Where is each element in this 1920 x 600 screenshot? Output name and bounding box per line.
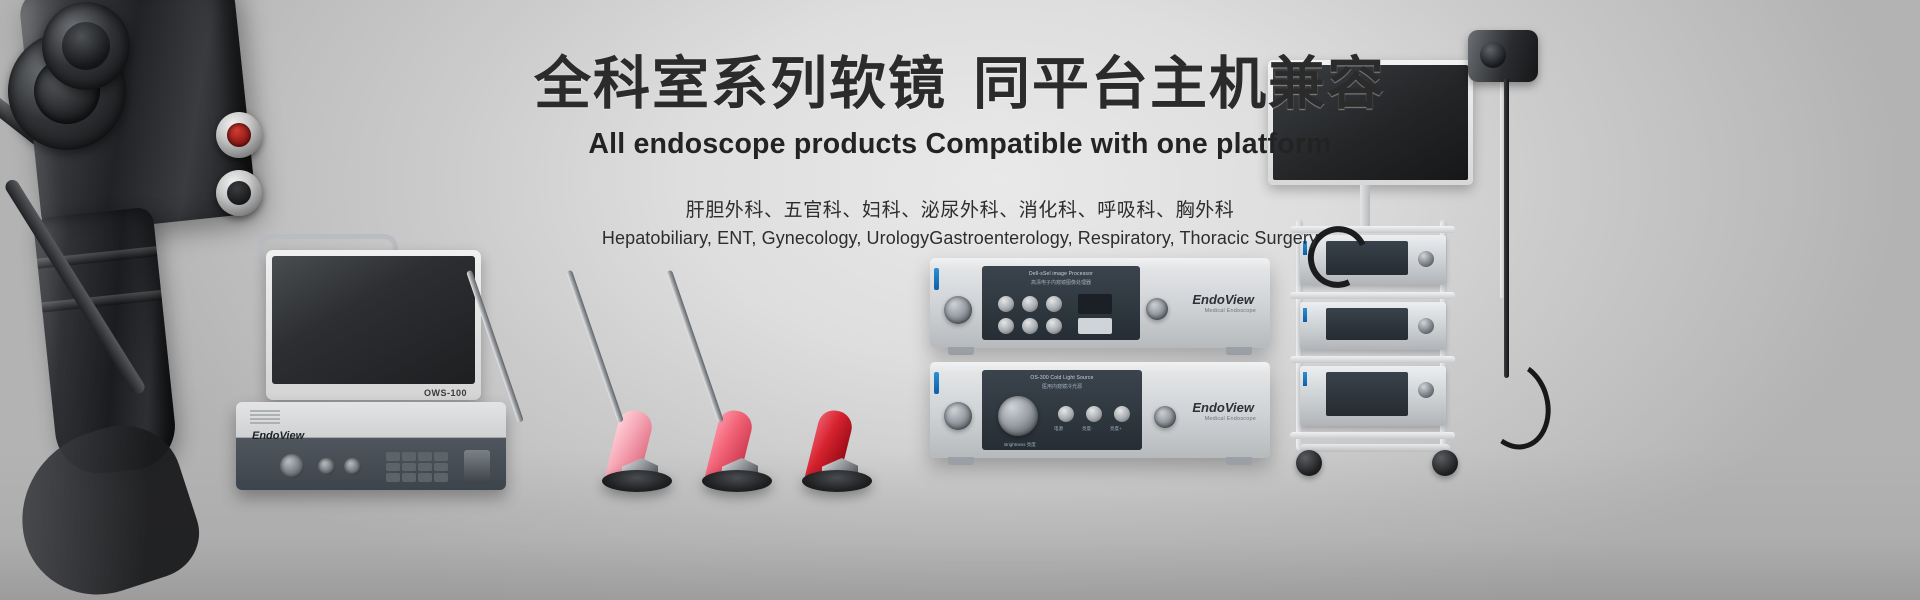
processor-brand-label: EndoView [1192, 292, 1254, 307]
lightsource-power-indicator [934, 372, 939, 394]
processor-btn-5 [1022, 318, 1038, 334]
lightsource-btn-up-label: 亮度+ [1110, 426, 1122, 432]
processor-btn-4 [998, 318, 1014, 334]
processor-title-cn: 高清电子内窥镜图像处理器 [982, 279, 1140, 286]
image-processor-unit: Dell-sSel image Processor 高清电子内窥镜图像处理器 E… [930, 258, 1270, 348]
rigid-instrument-red [712, 262, 862, 492]
lightsource-btn-power-label: 电源 [1054, 426, 1063, 432]
cart-wheel-left [1296, 450, 1322, 476]
workstation-model-label: OWS-100 [424, 388, 467, 398]
cart-unit-3 [1300, 366, 1446, 426]
subheadline-english: All endoscope products Compatible with o… [0, 128, 1920, 161]
cart-unit-2-indicator [1303, 308, 1307, 322]
scope-grip-ring-2 [42, 290, 162, 312]
processor-title-en: Dell-sSel image Processor [982, 271, 1140, 277]
workstation-keypad [386, 452, 448, 482]
headline-part-2: 同平台主机兼容 [973, 52, 1386, 116]
cart-shelf-2 [1290, 292, 1455, 299]
lightsource-subbrand-label: Medical Endoscope [1205, 416, 1256, 422]
processor-btn-1 [998, 296, 1014, 312]
processor-foot-right [1226, 347, 1252, 355]
cart-unit-2-panel [1326, 308, 1408, 340]
processor-port-usb [1078, 318, 1112, 334]
cart-unit-2-knob [1418, 318, 1434, 334]
cart-unit-1-knob [1418, 251, 1434, 267]
headline-part-1: 全科室系列软镜 [534, 52, 947, 116]
headline: 全科室系列软镜同平台主机兼容 [0, 52, 1920, 118]
cart-wheel-right [1432, 450, 1458, 476]
cart-scope-tube-loop [1470, 353, 1560, 457]
processor-port-hdmi [1078, 294, 1112, 314]
processor-btn-6 [1046, 318, 1062, 334]
cart-unit-3-knob [1418, 382, 1434, 398]
processor-main-knob [944, 296, 972, 324]
light-source-unit: OS-300 Cold Light Source 医用内窥镜冷光源 Bright… [930, 362, 1270, 458]
departments-english: Hepatobiliary, ENT, Gynecology, UrologyG… [0, 228, 1920, 249]
lightsource-title-cn: 医用内窥镜冷光源 [982, 383, 1142, 390]
instrument-stand [802, 470, 872, 492]
processor-power-indicator [934, 268, 939, 290]
cart-shelf-3 [1290, 356, 1455, 363]
lightsource-btn-down-label: 亮度- [1082, 426, 1093, 432]
lightsource-foot-left [948, 457, 974, 465]
lightsource-btn-power [1058, 406, 1074, 422]
cart-unit-3-indicator [1303, 372, 1307, 386]
cart-unit-3-panel [1326, 372, 1408, 416]
banner-text-block: 全科室系列软镜同平台主机兼容 All endoscope products Co… [0, 52, 1920, 249]
processor-btn-3 [1046, 296, 1062, 312]
processor-aux-knob [1146, 298, 1168, 320]
processor-foot-left [948, 347, 974, 355]
scope-distal-body [0, 410, 211, 600]
workstation-port-column [464, 450, 490, 484]
departments-chinese: 肝胆外科、五官科、妇科、泌尿外科、消化科、呼吸科、胸外科 [0, 195, 1920, 222]
lightsource-btn-up [1114, 406, 1130, 422]
lightsource-brand-label: EndoView [1192, 400, 1254, 415]
lightsource-btn-down [1086, 406, 1102, 422]
product-banner: OWS-100 EndoView [0, 0, 1920, 600]
lightsource-power-knob [944, 402, 972, 430]
lightsource-front-panel: OS-300 Cold Light Source 医用内窥镜冷光源 Bright… [982, 370, 1142, 450]
cart-unit-2 [1300, 302, 1446, 350]
processor-front-panel: Dell-sSel image Processor 高清电子内窥镜图像处理器 [982, 266, 1140, 340]
lightsource-foot-right [1226, 457, 1252, 465]
lightsource-knob-label: Brightness 亮度 [996, 442, 1044, 448]
lightsource-brightness-knob [998, 396, 1038, 436]
lightsource-aux-knob [1154, 406, 1176, 428]
processor-btn-2 [1022, 296, 1038, 312]
cart-shelf-4 [1290, 432, 1455, 439]
lightsource-title-en: OS-300 Cold Light Source [982, 375, 1142, 381]
processor-subbrand-label: Medical Endoscope [1205, 308, 1256, 314]
cart-axle [1300, 444, 1450, 452]
